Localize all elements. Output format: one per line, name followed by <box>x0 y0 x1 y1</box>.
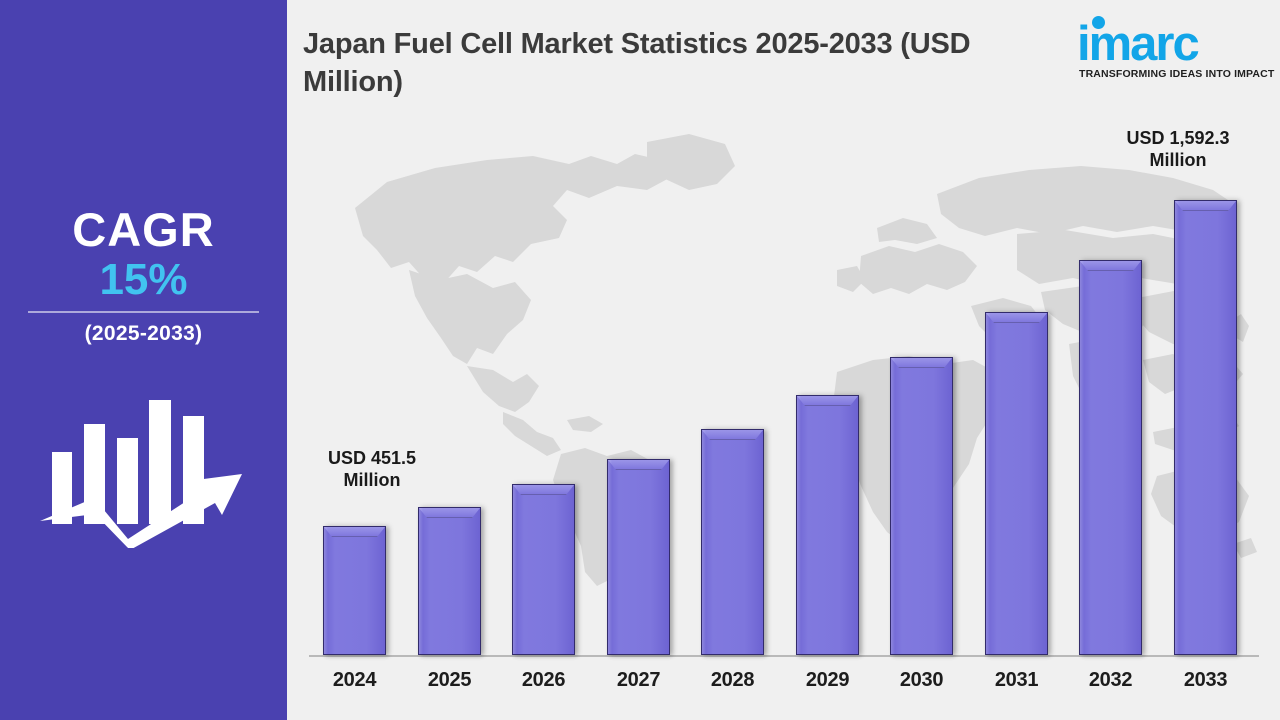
cagr-divider <box>28 311 259 313</box>
bar-2027[interactable] <box>607 459 670 655</box>
x-tick-label-2031: 2031 <box>985 669 1048 692</box>
bar-rect-2026[interactable] <box>512 484 575 655</box>
value-label-2024: USD 451.5 Million <box>297 448 447 492</box>
bar-2028[interactable] <box>701 429 764 655</box>
bar-2032[interactable] <box>1079 260 1142 655</box>
bar-rect-2033[interactable] <box>1174 200 1237 655</box>
x-tick-label-2028: 2028 <box>701 669 764 692</box>
bar-2026[interactable] <box>512 484 575 655</box>
bar-2030[interactable] <box>890 357 953 655</box>
value-label-2033-line1: USD 1,592.3 <box>1103 128 1253 150</box>
x-tick-label-2024: 2024 <box>323 669 386 692</box>
bar-rect-2025[interactable] <box>418 507 481 655</box>
bar-chart: USD 451.5 Million USD 1,592.3 Million 20… <box>287 0 1280 720</box>
cagr-block: CAGR 15% (2025-2033) <box>0 205 287 346</box>
chart-panel: Japan Fuel Cell Market Statistics 2025-2… <box>287 0 1280 720</box>
bar-rect-2030[interactable] <box>890 357 953 655</box>
cagr-sidebar: CAGR 15% (2025-2033) <box>0 0 287 720</box>
x-tick-label-2026: 2026 <box>512 669 575 692</box>
cagr-period: (2025-2033) <box>0 322 287 346</box>
bar-2024[interactable] <box>323 526 386 655</box>
cagr-value: 15% <box>0 256 287 304</box>
x-tick-label-2032: 2032 <box>1079 669 1142 692</box>
bar-2029[interactable] <box>796 395 859 655</box>
bar-2025[interactable] <box>418 507 481 655</box>
x-axis-line <box>309 655 1259 657</box>
bar-rect-2024[interactable] <box>323 526 386 655</box>
x-tick-label-2025: 2025 <box>418 669 481 692</box>
x-tick-label-2029: 2029 <box>796 669 859 692</box>
bar-rect-2032[interactable] <box>1079 260 1142 655</box>
value-label-2024-line1: USD 451.5 <box>297 448 447 470</box>
bar-rect-2028[interactable] <box>701 429 764 655</box>
x-tick-label-2030: 2030 <box>890 669 953 692</box>
value-label-2033: USD 1,592.3 Million <box>1103 128 1253 172</box>
value-label-2033-line2: Million <box>1103 150 1253 172</box>
growth-bar-chart-arrow-icon <box>36 388 252 548</box>
x-tick-label-2027: 2027 <box>607 669 670 692</box>
x-tick-label-2033: 2033 <box>1174 669 1237 692</box>
value-label-2024-line2: Million <box>297 470 447 492</box>
bar-rect-2027[interactable] <box>607 459 670 655</box>
bar-2031[interactable] <box>985 312 1048 655</box>
bar-rect-2029[interactable] <box>796 395 859 655</box>
bar-2033[interactable] <box>1174 200 1237 655</box>
bar-rect-2031[interactable] <box>985 312 1048 655</box>
cagr-title: CAGR <box>0 205 287 254</box>
